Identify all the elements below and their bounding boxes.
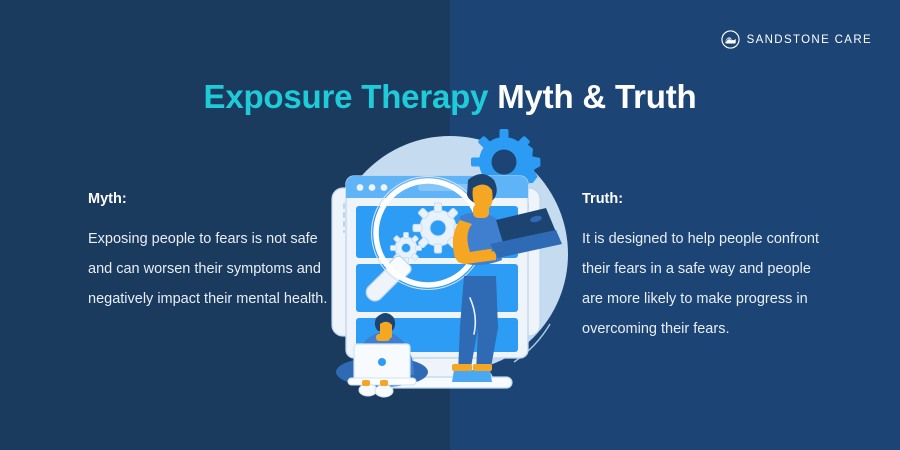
- browser-dots: [357, 184, 388, 191]
- standing-person-neck: [473, 204, 489, 218]
- title-plain-text: Myth & Truth: [497, 78, 696, 115]
- myth-body: Exposing people to fears is not safe and…: [88, 224, 336, 314]
- page-title: Exposure Therapy Myth & Truth: [0, 78, 900, 116]
- sandstone-circle-wave-icon: [721, 30, 740, 49]
- infographic-canvas: SANDSTONE CARE Exposure Therapy Myth & T…: [0, 0, 900, 450]
- truth-label: Truth:: [582, 192, 830, 208]
- sitting-laptop-screen-dot: [378, 358, 386, 366]
- brand-logo: SANDSTONE CARE: [721, 30, 872, 49]
- title-accent-text: Exposure Therapy: [204, 78, 489, 115]
- truth-body: It is designed to help people confront t…: [582, 224, 830, 345]
- browser-gears-magnifier-people-illustration: [318, 128, 582, 398]
- myth-label: Myth:: [88, 192, 336, 208]
- brand-name: SANDSTONE CARE: [747, 34, 872, 46]
- myth-column: Myth: Exposing people to fears is not sa…: [88, 192, 336, 314]
- standing-person-legs: [458, 276, 498, 373]
- truth-column: Truth: It is designed to help people con…: [582, 192, 830, 345]
- standing-person-shoe-left: [452, 370, 474, 382]
